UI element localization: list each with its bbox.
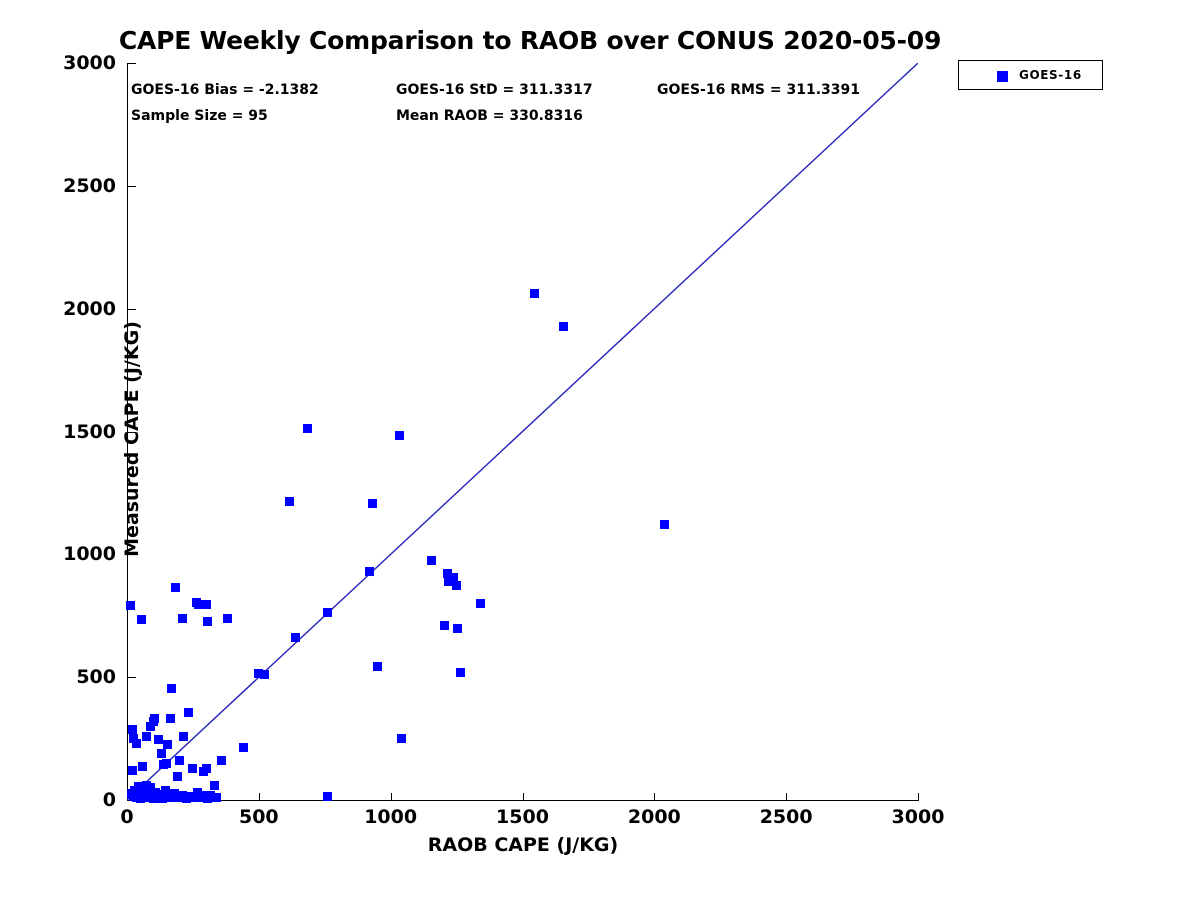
x-ticklabel-1000: 1000 [331,806,451,828]
data-point [184,708,193,717]
y-ticklabel-1500: 1500 [16,421,116,443]
data-point [397,734,406,743]
data-point [173,772,182,781]
data-point [217,756,226,765]
data-point [223,614,232,623]
data-point [239,743,248,752]
data-point [395,431,404,440]
stat-annotation: GOES-16 StD = 311.3317 [396,82,593,98]
data-point [203,617,212,626]
data-point [368,499,377,508]
y-ticklabel-2500: 2500 [16,175,116,197]
data-point [150,714,159,723]
data-point [188,764,197,773]
x-ticklabel-2500: 2500 [726,806,846,828]
data-point [154,735,163,744]
data-point [456,668,465,677]
data-point [323,792,332,801]
stat-annotation: Sample Size = 95 [131,108,268,124]
data-point [452,581,461,590]
stat-annotation: GOES-16 RMS = 311.3391 [657,82,860,98]
legend-swatch-goes-16 [997,71,1008,82]
data-point [157,749,166,758]
y-ticklabel-2000: 2000 [16,298,116,320]
data-point [138,762,147,771]
data-point [303,424,312,433]
data-point [175,756,184,765]
x-ticklabel-3000: 3000 [858,806,978,828]
data-point [210,781,219,790]
data-point [142,732,151,741]
page-title: CAPE Weekly Comparison to RAOB over CONU… [0,26,1060,55]
scatter-plot-area [127,63,918,800]
data-point [291,633,300,642]
data-point [128,766,137,775]
data-point [660,520,669,529]
data-point [202,764,211,773]
data-point [365,567,374,576]
stat-annotation: GOES-16 Bias = -2.1382 [131,82,319,98]
data-point [171,583,180,592]
data-point [440,621,449,630]
x-axis-label: RAOB CAPE (J/KG) [127,834,919,856]
data-point [476,599,485,608]
x-ticklabel-2000: 2000 [594,806,714,828]
stat-annotation: Mean RAOB = 330.8316 [396,108,583,124]
data-point [137,615,146,624]
data-point [179,732,188,741]
data-point [212,793,221,802]
x-tick-3000 [918,793,919,801]
data-point [323,608,332,617]
data-point [530,289,539,298]
chart-figure: CAPE Weekly Comparison to RAOB over CONU… [0,0,1200,900]
data-point [285,497,294,506]
data-point [167,684,176,693]
legend[interactable]: GOES-16 [958,60,1103,90]
data-point [132,739,141,748]
y-ticklabel-1000: 1000 [16,543,116,565]
data-point [260,670,269,679]
x-ticklabel-1500: 1500 [463,806,583,828]
data-point [126,601,135,610]
data-point [427,556,436,565]
data-point [453,624,462,633]
data-point [373,662,382,671]
data-point [163,740,172,749]
data-point [559,322,568,331]
legend-label-goes-16: GOES-16 [1019,68,1099,82]
x-ticklabel-500: 500 [199,806,319,828]
data-point [178,614,187,623]
y-ticklabel-0: 0 [16,789,116,811]
y-ticklabel-500: 500 [16,666,116,688]
data-point [166,714,175,723]
y-ticklabel-3000: 3000 [16,52,116,74]
data-point [162,759,171,768]
data-point [202,600,211,609]
